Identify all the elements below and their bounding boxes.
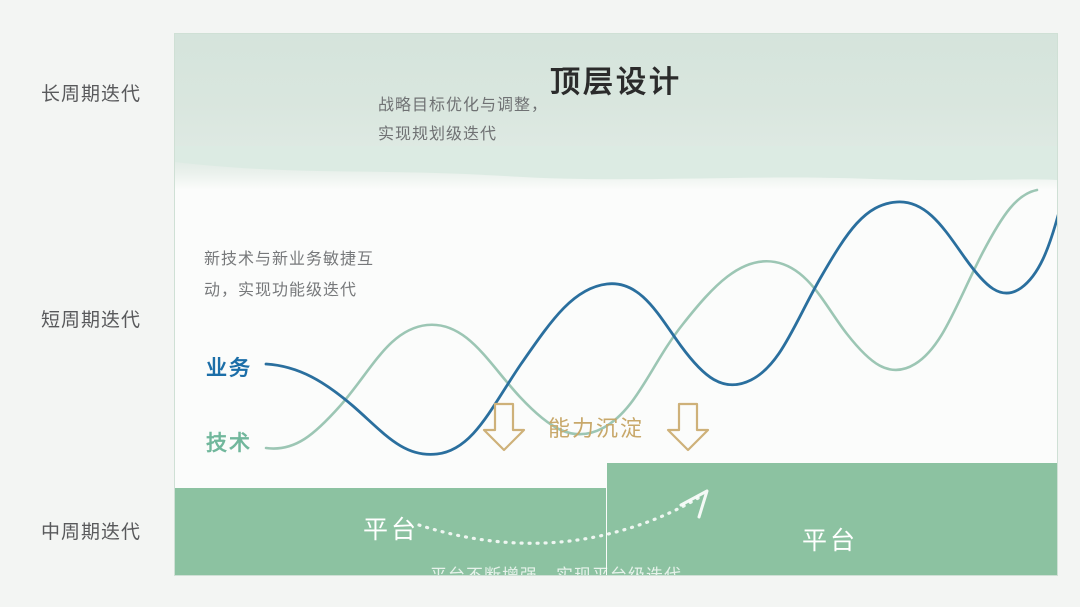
series-label-tech: 技术 [206, 427, 252, 457]
platform-label-left: 平台 [363, 510, 419, 546]
axis-label-long-cycle: 长周期迭代 [41, 79, 141, 106]
platform-note: 平台不断增强，实现平台级迭代 [430, 561, 682, 576]
series-label-business: 业务 [206, 352, 252, 382]
down-arrow-left-icon [480, 401, 528, 453]
capability-precipitation-text: 能力沉淀 [548, 411, 644, 443]
down-arrow-right-icon [664, 401, 712, 453]
axis-label-short-cycle: 短周期迭代 [41, 305, 141, 332]
axis-label-mid-cycle: 中周期迭代 [41, 517, 141, 544]
platform-label-right: 平台 [802, 521, 858, 557]
platform-growth-arrow-icon [415, 489, 735, 559]
chart-frame: 顶层设计 战略目标优化与调整， 实现规划级迭代 新技术与新业务敏捷互 动，实现功… [174, 33, 1058, 576]
slide-canvas: 长周期迭代 短周期迭代 中周期迭代 顶层设计 战略目标优化与调整， 实现规划级迭… [0, 0, 1080, 607]
capability-precipitation-row: 能力沉淀 [480, 401, 712, 453]
